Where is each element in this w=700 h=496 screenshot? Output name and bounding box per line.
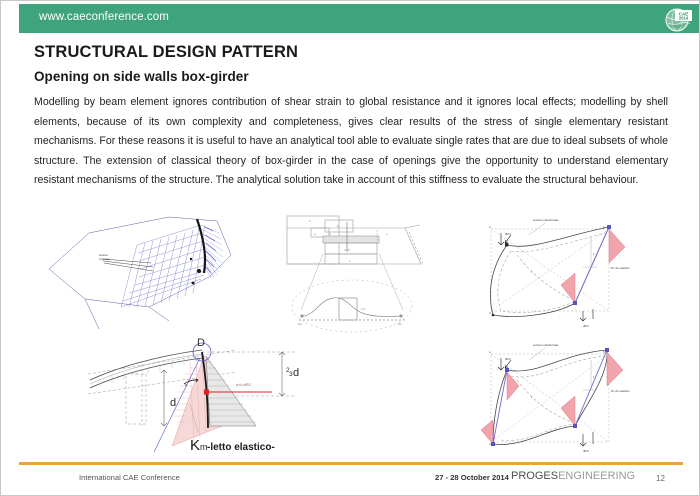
svg-text:b: b xyxy=(603,225,605,229)
svg-text:s: s xyxy=(386,232,388,236)
resistant-mechanism-diagram-b: sezione indeformata z R=-dm elastico dP/… xyxy=(471,336,646,458)
label-D: D xyxy=(197,337,205,349)
box-girder-section-drawing: X E a b s 2.25 L Ra Rb t=1 xyxy=(281,206,461,334)
footer-brand-primary: PROGES xyxy=(511,470,558,482)
svg-text:d: d xyxy=(293,367,299,379)
label-d: d xyxy=(170,397,176,409)
svg-text:a: a xyxy=(489,225,491,229)
page-subtitle: Opening on side walls box-girder xyxy=(34,69,249,84)
label-km: K m -letto elastico- xyxy=(190,437,275,454)
svg-text:z: z xyxy=(593,252,595,256)
svg-text:t=1: t=1 xyxy=(361,307,366,311)
svg-text:E: E xyxy=(337,224,339,228)
cae-globe-logo: CAE 2014 xyxy=(663,5,693,33)
svg-text:sezione indeformata: sezione indeformata xyxy=(533,343,559,347)
svg-text:Ra: Ra xyxy=(298,322,302,326)
svg-text:2014: 2014 xyxy=(679,16,689,21)
svg-text:sezione: sezione xyxy=(99,253,108,257)
label-alpha-k-annotation: α·K=dP/2 xyxy=(236,383,251,387)
footer-brand: PROGESENGINEERING xyxy=(511,470,635,482)
footer-conference: International CAE Conference xyxy=(79,473,180,482)
figure-grid: sezione originaria xyxy=(31,206,676,456)
footer-page-number: 12 xyxy=(656,474,665,483)
svg-text:a: a xyxy=(314,232,316,236)
svg-text:d: d xyxy=(489,311,491,315)
svg-text:K: K xyxy=(190,437,200,454)
footer-rule xyxy=(19,462,683,465)
body-paragraph: Modelling by beam element ignores contri… xyxy=(34,93,668,191)
page-title: STRUCTURAL DESIGN PATTERN xyxy=(34,43,298,62)
svg-text:R=-dm elastico: R=-dm elastico xyxy=(611,266,630,270)
svg-text:d: d xyxy=(489,442,491,446)
svg-text:dP/2: dP/2 xyxy=(505,232,511,236)
label-two-thirds-d: 2 3 d xyxy=(286,367,299,379)
footer-brand-secondary: ENGINEERING xyxy=(558,470,635,482)
footer-date: 27 - 28 October 2014 xyxy=(435,473,509,482)
svg-text:a: a xyxy=(489,350,491,354)
svg-text:-letto elastico-: -letto elastico- xyxy=(207,442,275,453)
svg-text:R=-dm elastico: R=-dm elastico xyxy=(611,389,630,393)
svg-text:dP/2: dP/2 xyxy=(505,357,511,361)
svg-text:X: X xyxy=(309,219,311,223)
resistant-mechanism-diagram-a: sezione indeformata z R=-dm elastico dP/… xyxy=(471,211,646,331)
elastic-bed-diagram: D d 2 3 d α α·K=dP/2 K m -letto elastico… xyxy=(86,334,316,454)
svg-text:Rb: Rb xyxy=(398,322,402,326)
svg-text:L: L xyxy=(349,259,351,263)
svg-text:dP/2: dP/2 xyxy=(583,324,589,328)
svg-text:originaria: originaria xyxy=(99,257,110,261)
slide-root: www.caeconference.com CAE 2014 STRUCTURA… xyxy=(0,0,700,496)
fem-mesh-deformed-shape: sezione originaria xyxy=(41,211,256,331)
svg-text:2.25: 2.25 xyxy=(344,248,350,252)
header-bar: www.caeconference.com CAE 2014 xyxy=(19,4,700,33)
svg-text:b: b xyxy=(329,232,331,236)
svg-text:dP/2: dP/2 xyxy=(583,449,589,453)
svg-text:sezione indeformata: sezione indeformata xyxy=(533,218,559,222)
header-url[interactable]: www.caeconference.com xyxy=(39,11,169,23)
